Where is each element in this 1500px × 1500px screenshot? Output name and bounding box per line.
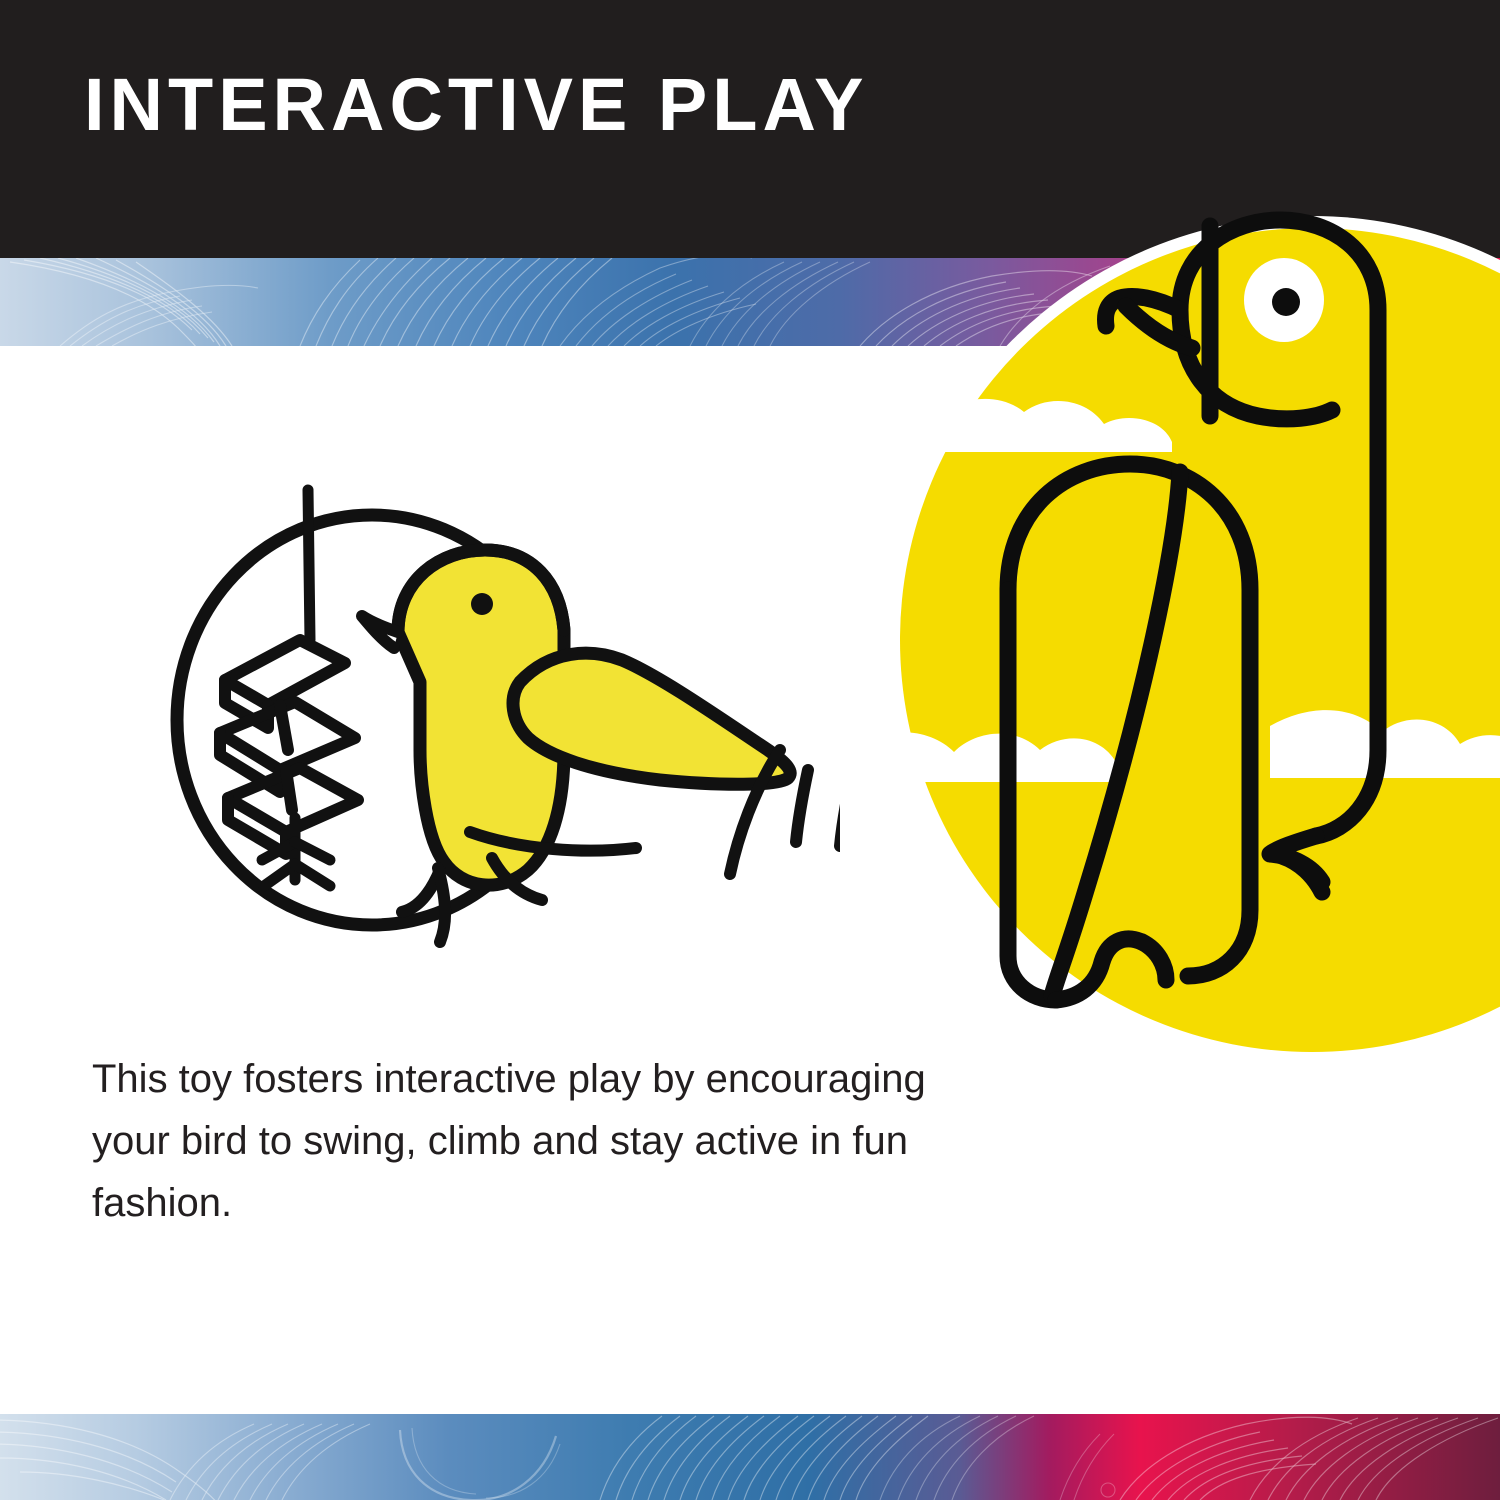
product-feature-card: INTERACTIVE PLAY <box>0 0 1500 1500</box>
wooden-ladder-toy <box>220 640 358 854</box>
bird-eye <box>471 593 493 615</box>
parrot-on-yellow-circle <box>880 190 1500 1090</box>
description-block: This toy fosters interactive play by enc… <box>92 1048 992 1234</box>
page-title: INTERACTIVE PLAY <box>84 68 868 142</box>
toy-hanging-string <box>308 490 310 640</box>
parrot-pupil <box>1272 288 1300 316</box>
feather-band-bottom-graphic <box>0 1414 1500 1500</box>
feather-band-bottom <box>0 1414 1500 1500</box>
interactive-play-icon <box>140 450 840 1010</box>
hero-parrot-panel <box>880 190 1500 1090</box>
yellow-disc <box>900 228 1500 1052</box>
bird-with-ladder-toy-icon <box>140 450 840 1010</box>
description-paragraph: This toy fosters interactive play by enc… <box>92 1048 992 1234</box>
